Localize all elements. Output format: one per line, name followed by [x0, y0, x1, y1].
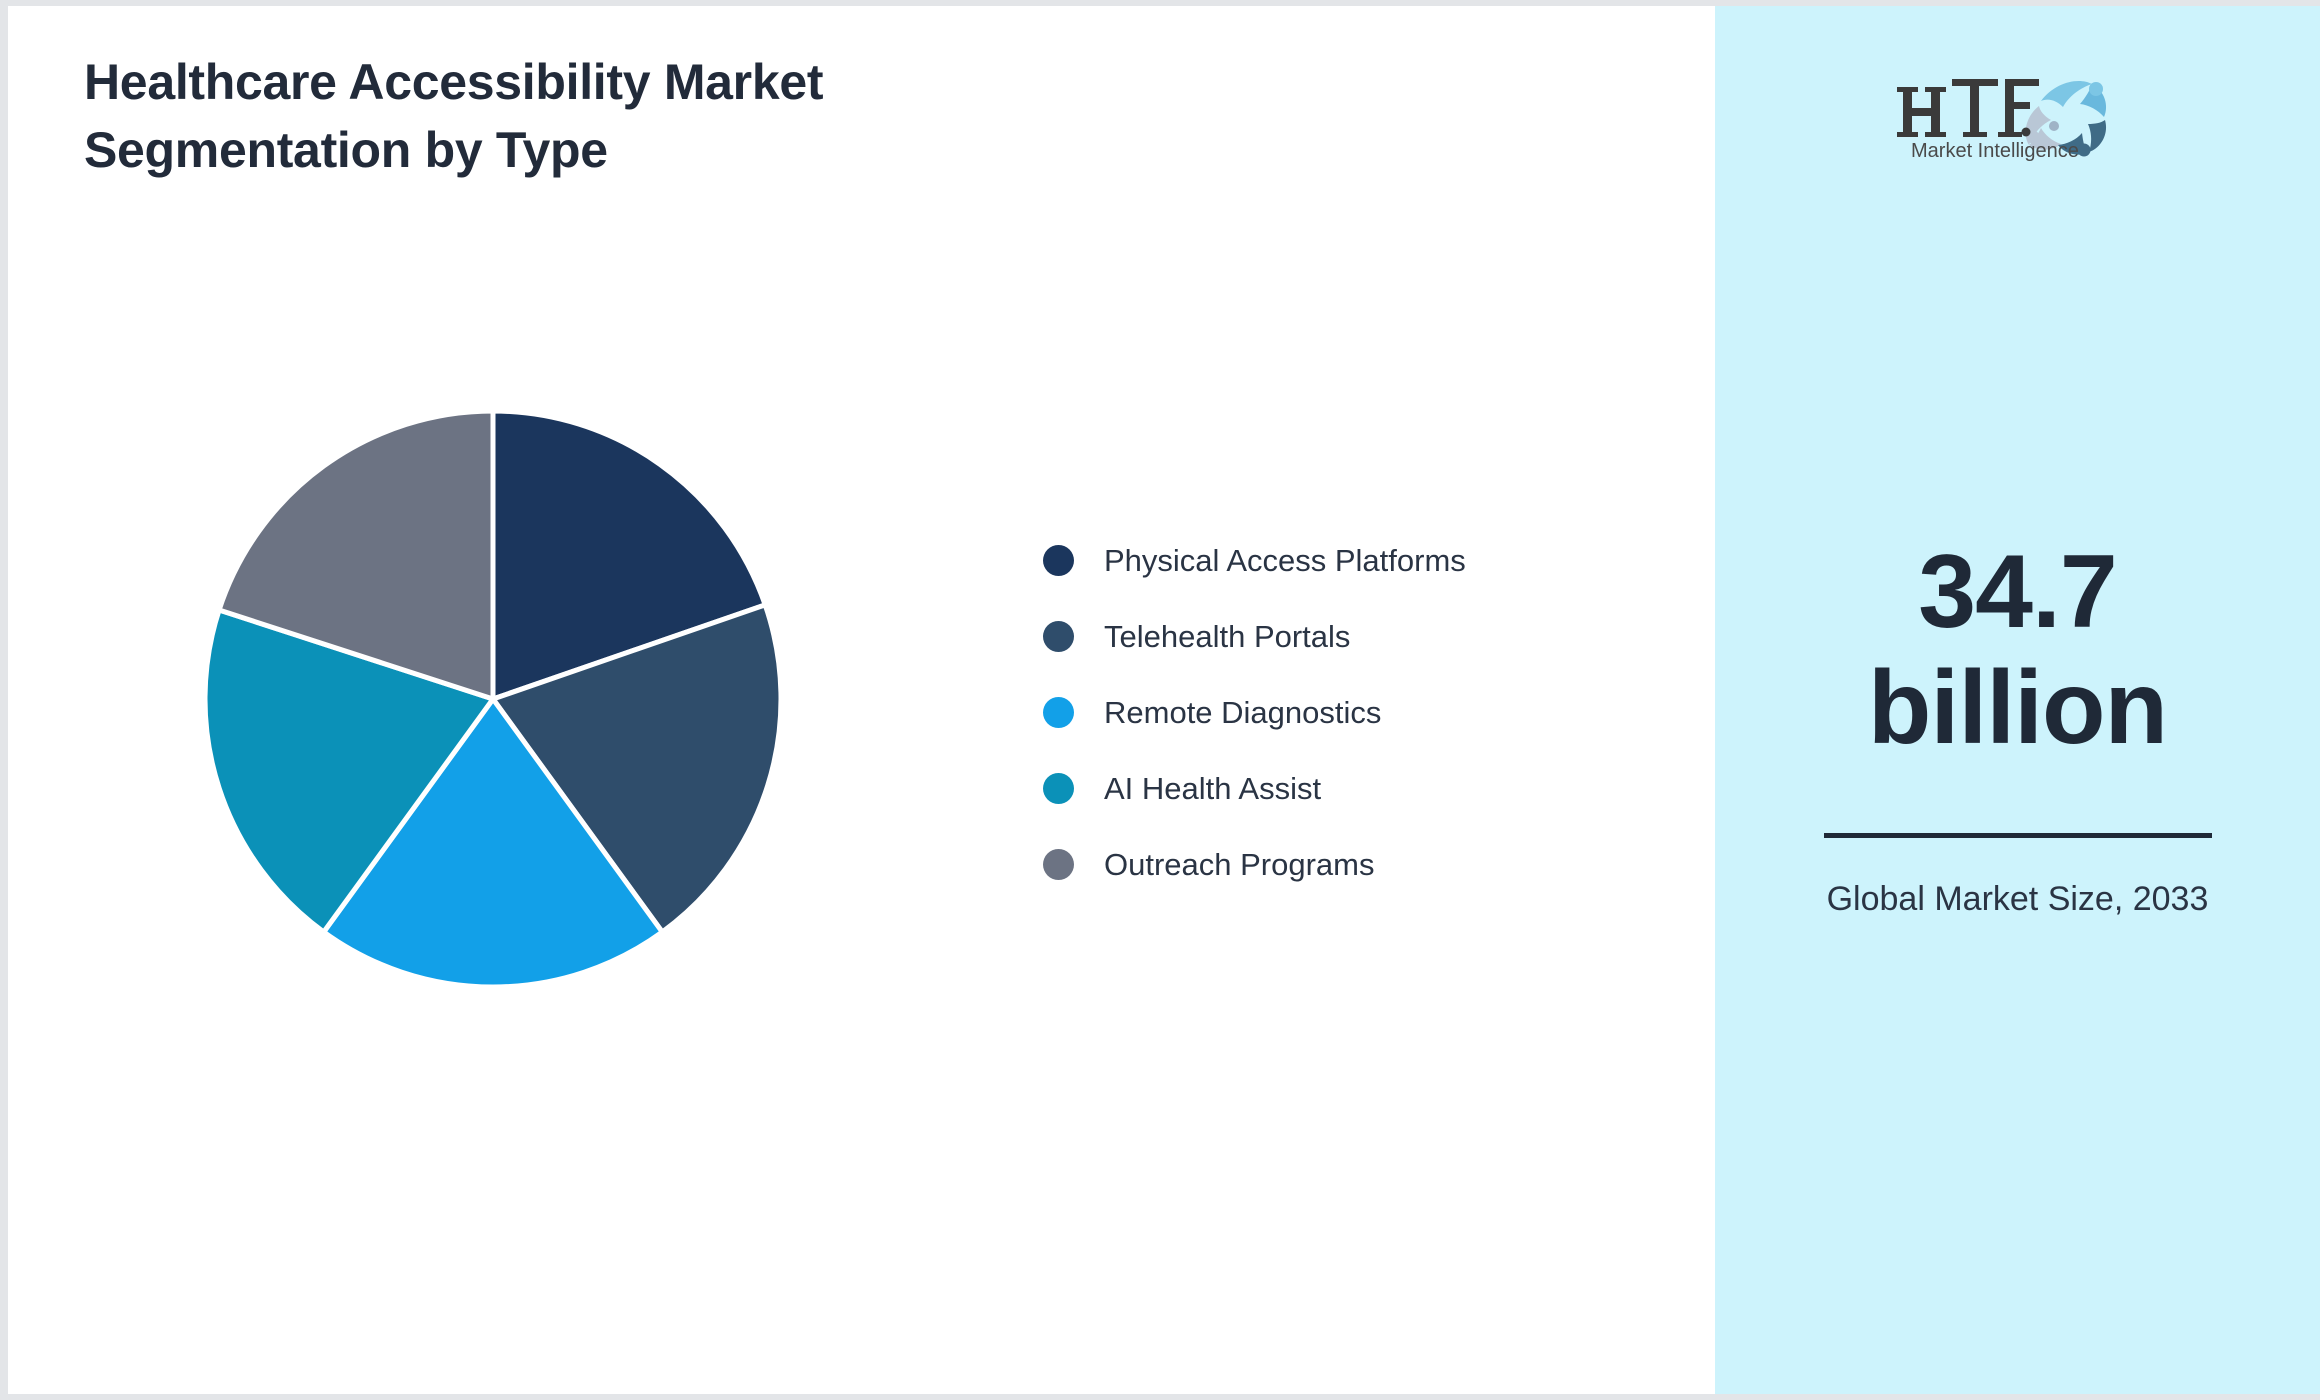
legend-label: AI Health Assist: [1104, 773, 1321, 804]
legend-label: Telehealth Portals: [1104, 621, 1350, 652]
legend-item-physical-access-platforms[interactable]: Physical Access Platforms: [1043, 522, 1466, 598]
legend-swatch-icon: [1043, 849, 1074, 880]
legend-label: Physical Access Platforms: [1104, 545, 1466, 576]
legend-swatch-icon: [1043, 621, 1074, 652]
pie-slice-group: [205, 411, 781, 987]
infographic-card: Healthcare Accessibility Market Segmenta…: [8, 6, 2320, 1394]
page-title: Healthcare Accessibility Market Segmenta…: [84, 48, 1134, 184]
legend-item-outreach-programs[interactable]: Outreach Programs: [1043, 826, 1466, 902]
legend-item-ai-health-assist[interactable]: AI Health Assist: [1043, 750, 1466, 826]
stat-divider: [1824, 833, 2212, 838]
stat-value: 34.7 billion: [1715, 534, 2320, 767]
pie-chart-svg: [198, 404, 788, 994]
legend-swatch-icon: [1043, 773, 1074, 804]
logo-svg: Market Intelligence: [1893, 54, 2143, 162]
chart-panel: Healthcare Accessibility Market Segmenta…: [8, 6, 1715, 1394]
pie-chart: [198, 404, 788, 994]
legend-swatch-icon: [1043, 697, 1074, 728]
htf-market-intelligence-logo: Market Intelligence: [1893, 54, 2143, 162]
logo-tagline: Market Intelligence: [1911, 140, 2079, 162]
legend-swatch-icon: [1043, 545, 1074, 576]
chart-legend: Physical Access Platforms Telehealth Por…: [1043, 522, 1466, 902]
stat-caption: Global Market Size, 2033: [1715, 876, 2320, 923]
legend-label: Outreach Programs: [1104, 849, 1375, 880]
legend-item-telehealth-portals[interactable]: Telehealth Portals: [1043, 598, 1466, 674]
legend-item-remote-diagnostics[interactable]: Remote Diagnostics: [1043, 674, 1466, 750]
stat-block: 34.7 billion Global Market Size, 2033: [1715, 534, 2320, 923]
legend-label: Remote Diagnostics: [1104, 697, 1381, 728]
logo-wordmark: [1897, 79, 2039, 137]
stat-panel: Market Intelligence 34.7 billion Global …: [1715, 6, 2320, 1394]
